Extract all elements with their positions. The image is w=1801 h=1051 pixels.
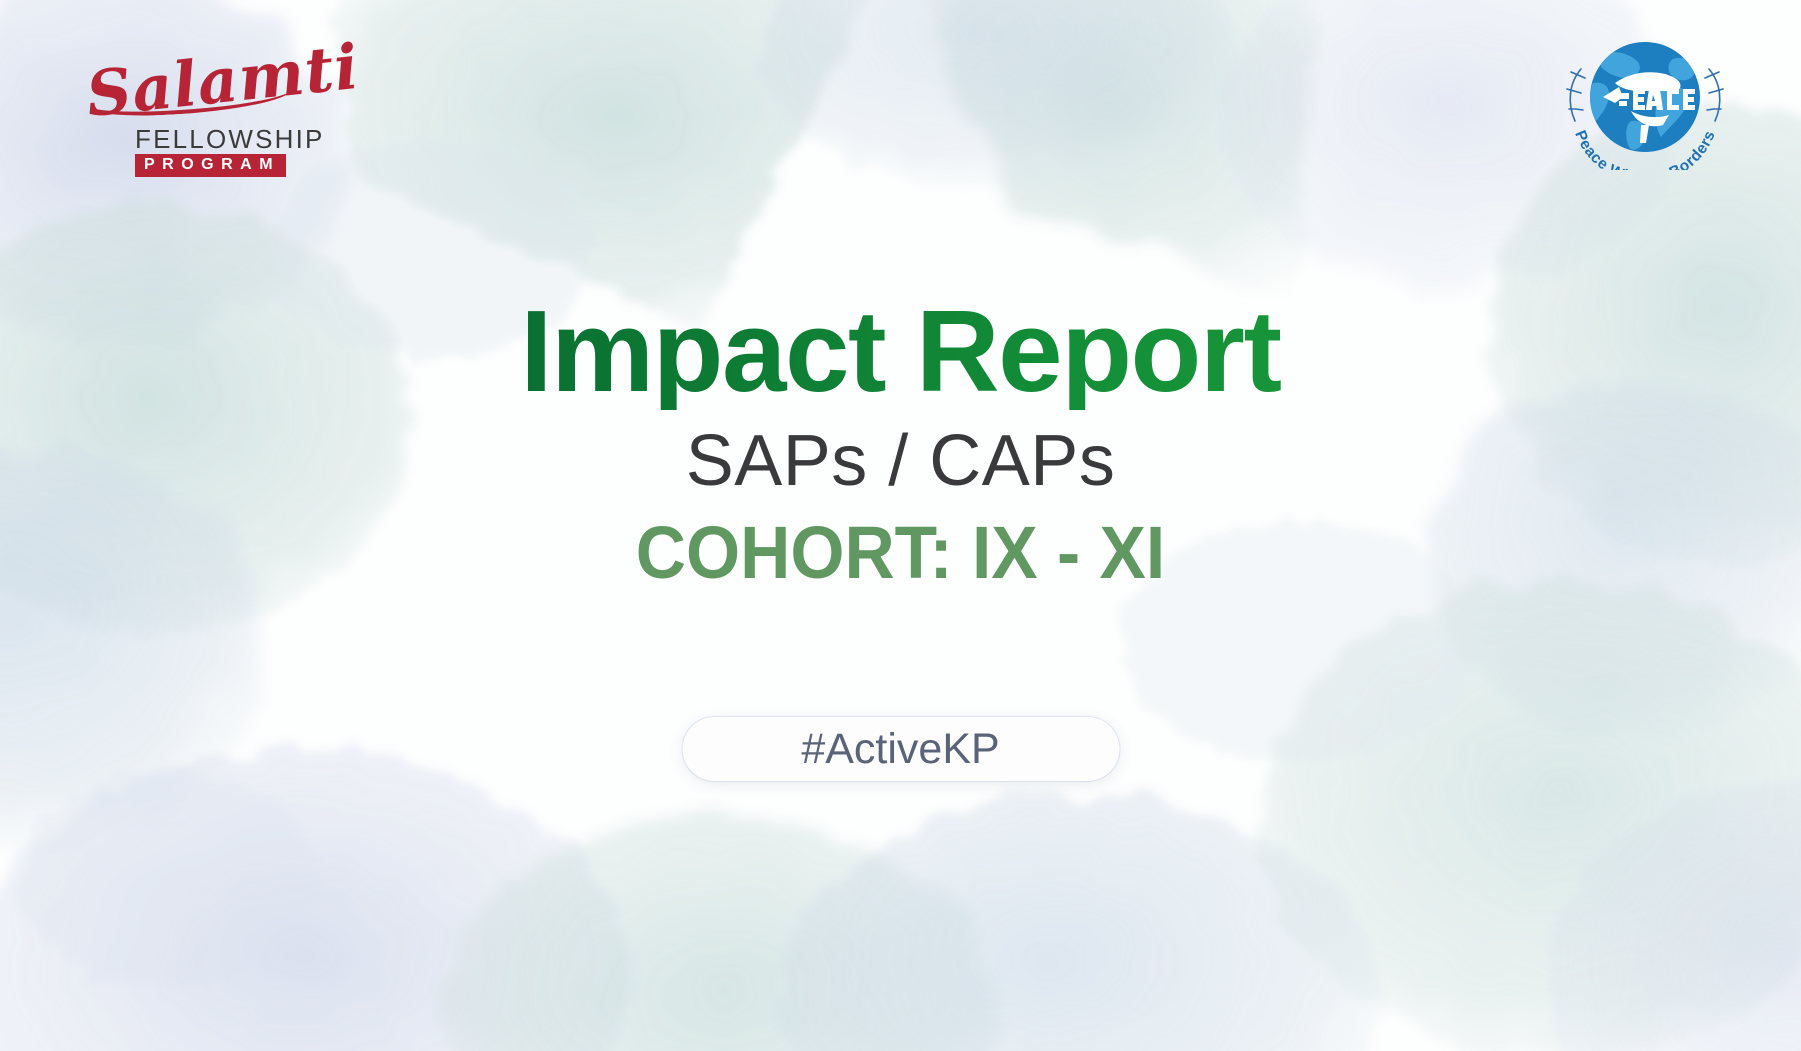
impact-report-slide: Salamti FELLOWSHIP PROGRAM: [0, 0, 1801, 1051]
barbed-wire-left: [1567, 69, 1585, 121]
barbed-wire-right: [1705, 69, 1723, 121]
subtitle-saps-caps: SAPs / CAPs: [0, 420, 1801, 502]
salamti-program-banner: PROGRAM: [135, 154, 286, 177]
headline-block: Impact Report SAPs / CAPs COHORT: IX - X…: [0, 292, 1801, 595]
page-title: Impact Report: [0, 292, 1801, 410]
pwb-logo-graphic: Peace Without Borders: [1545, 25, 1745, 170]
cohort-label: COHORT: IX - XI: [54, 510, 1747, 595]
hashtag-badge: #ActiveKP: [682, 717, 1119, 781]
hashtag-label: #ActiveKP: [801, 725, 999, 774]
peace-without-borders-logo: Peace Without Borders: [1545, 25, 1745, 170]
salamti-script-wordmark: Salamti: [84, 36, 362, 126]
salamti-fellowship-label: FELLOWSHIP: [135, 124, 325, 155]
salamti-fellowship-logo: Salamti FELLOWSHIP PROGRAM: [78, 42, 318, 167]
